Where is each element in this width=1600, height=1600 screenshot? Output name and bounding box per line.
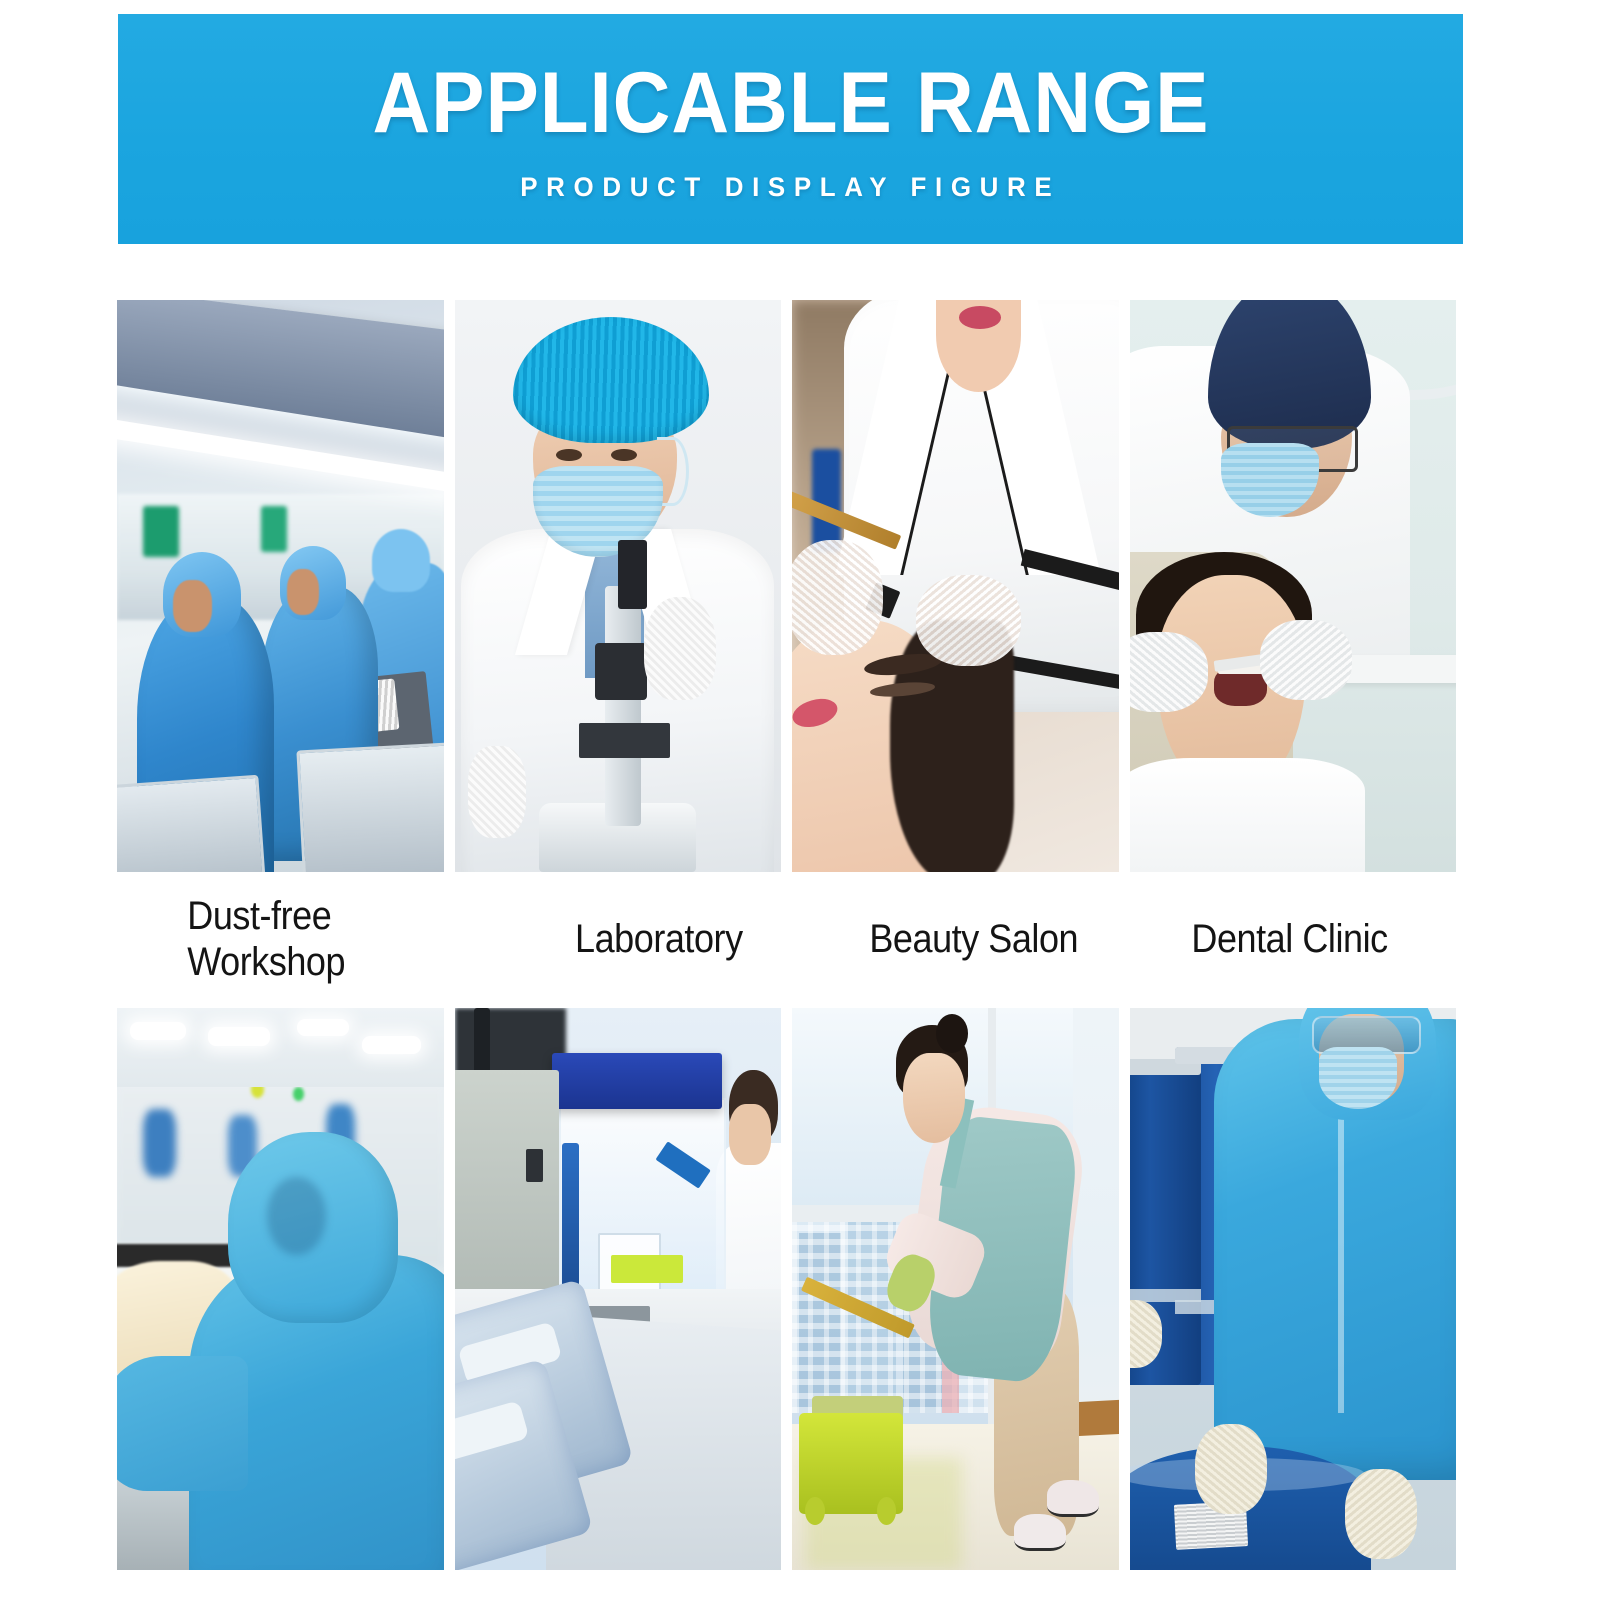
dental-clinic-photo [1130, 300, 1457, 872]
laboratory-photo [455, 300, 782, 872]
chemical-handling-photo [1130, 1008, 1457, 1570]
photo-row-top [117, 300, 1456, 872]
label-laboratory: Laboratory [506, 880, 795, 998]
page-title: APPLICABLE RANGE [372, 61, 1209, 145]
category-label-row: Dust-free Workshop Laboratory Beauty Sal… [117, 880, 1456, 998]
biosafety-lab-photo [455, 1008, 782, 1570]
label-beauty-salon: Beauty Salon [837, 880, 1110, 998]
beauty-salon-photo [792, 300, 1119, 872]
food-processing-photo [117, 1008, 444, 1570]
label-dental-clinic: Dental Clinic [1152, 880, 1440, 998]
page-subtitle: PRODUCT DISPLAY FIGURE [520, 172, 1060, 203]
dust-free-workshop-photo [117, 300, 444, 872]
label-dust-free-workshop: Dust-free Workshop [135, 880, 460, 998]
photo-row-bottom [117, 1008, 1456, 1570]
housekeeping-photo [792, 1008, 1119, 1570]
header-banner: APPLICABLE RANGE PRODUCT DISPLAY FIGURE [118, 14, 1463, 244]
